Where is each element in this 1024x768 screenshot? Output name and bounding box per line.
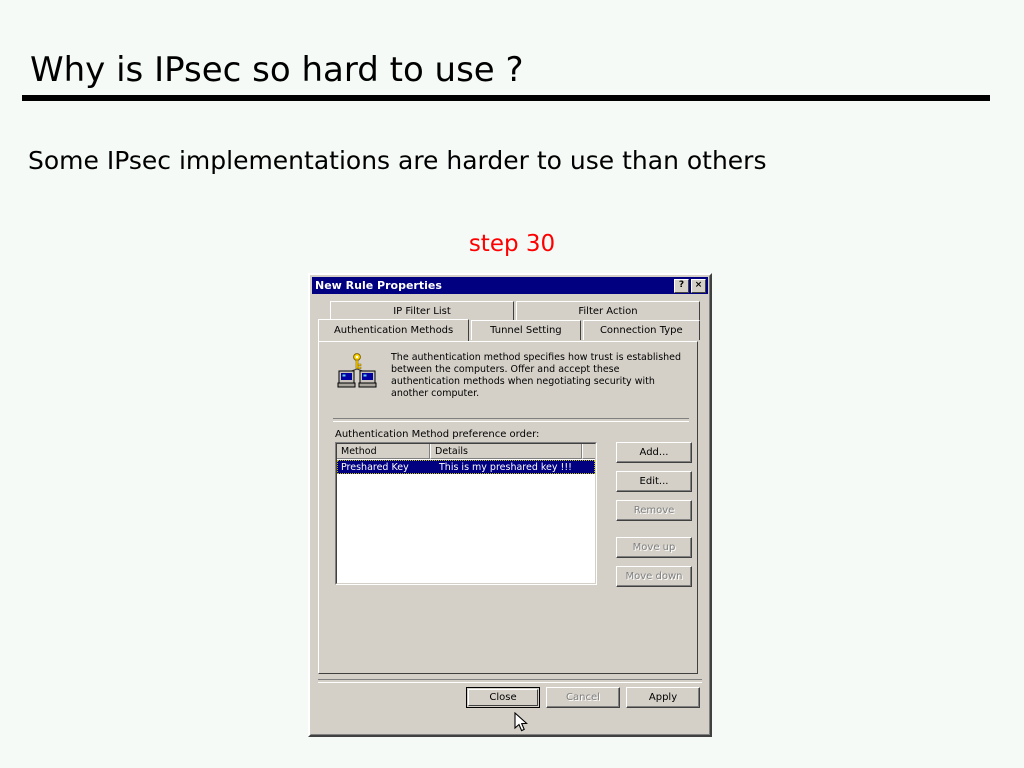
info-description: The authentication method specifies how … <box>391 352 687 400</box>
authentication-method-list[interactable]: Method Details Preshared Key This is my … <box>335 442 597 585</box>
cancel-button[interactable]: Cancel <box>546 687 620 708</box>
tab-tunnel-setting[interactable]: Tunnel Setting <box>471 320 580 340</box>
page-title: Why is IPsec so hard to use ? <box>30 50 524 90</box>
help-icon[interactable]: ? <box>674 279 689 293</box>
close-button[interactable]: Close <box>466 687 540 708</box>
button-spacer <box>616 529 692 537</box>
add-button[interactable]: Add... <box>616 442 692 463</box>
list-action-buttons: Add... Edit... Remove Move up Move down <box>616 442 692 595</box>
close-button-label: Close <box>468 689 538 706</box>
info-separator <box>333 418 689 422</box>
listbox-border <box>336 443 596 584</box>
tab-connection-type[interactable]: Connection Type <box>583 320 700 340</box>
move-up-button[interactable]: Move up <box>616 537 692 558</box>
edit-button[interactable]: Edit... <box>616 471 692 492</box>
info-block: The authentication method specifies how … <box>337 352 687 400</box>
slide-subtitle: Some IPsec implementations are harder to… <box>28 146 767 175</box>
new-rule-properties-dialog: New Rule Properties ? × IP Filter List F… <box>308 273 712 737</box>
dialog-separator <box>318 679 702 683</box>
two-computers-with-key-icon <box>337 352 377 390</box>
preference-order-label: Authentication Method preference order: <box>335 429 539 440</box>
apply-button[interactable]: Apply <box>626 687 700 708</box>
tab-filter-action[interactable]: Filter Action <box>516 301 700 321</box>
dialog-title: New Rule Properties <box>315 279 672 292</box>
tab-row-1: IP Filter List Filter Action <box>318 301 702 321</box>
tab-ip-filter-list[interactable]: IP Filter List <box>330 301 514 321</box>
tab-strip: IP Filter List Filter Action Authenticat… <box>318 301 702 343</box>
step-label: step 30 <box>0 231 1024 257</box>
tab-row-2: Authentication Methods Tunnel Setting Co… <box>318 320 702 340</box>
remove-button[interactable]: Remove <box>616 500 692 521</box>
tab-authentication-methods[interactable]: Authentication Methods <box>318 319 469 341</box>
title-divider <box>22 95 990 101</box>
move-down-button[interactable]: Move down <box>616 566 692 587</box>
dialog-footer-buttons: Close Cancel Apply <box>466 687 700 708</box>
tab-panel-authentication-methods: The authentication method specifies how … <box>318 341 698 674</box>
close-icon[interactable]: × <box>691 279 706 293</box>
dialog-titlebar[interactable]: New Rule Properties ? × <box>312 277 708 294</box>
